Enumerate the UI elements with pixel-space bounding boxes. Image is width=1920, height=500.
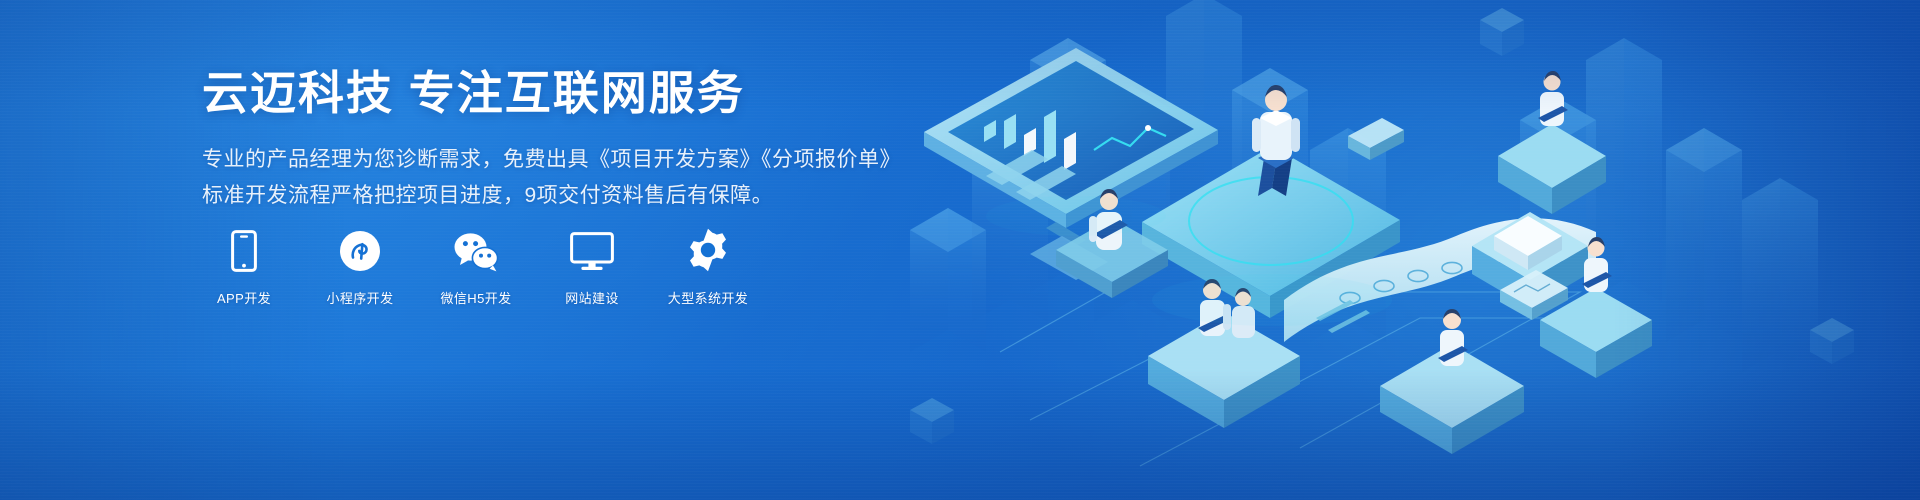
service-label-mini-program: 小程序开发 [326,288,393,307]
banner-subtitle-line-2: 标准开发流程严格把控项目进度，9项交付资料售后有保障。 [202,178,962,214]
service-label-website: 网站建设 [565,288,619,307]
service-item-wechat-h5[interactable]: 微信H5开发 [432,228,520,307]
service-list: APP开发 小程序开发 [200,228,752,307]
gear-icon [686,228,730,272]
isometric-illustration [880,0,1920,500]
service-label-wechat-h5: 微信H5开发 [440,288,511,307]
mini-program-icon [339,228,381,272]
banner-subtitle-line-1: 专业的产品经理为您诊断需求，免费出具《项目开发方案》《分项报价单》 [202,142,962,178]
service-label-large-system: 大型系统开发 [668,288,748,307]
wechat-icon [452,228,500,272]
service-item-app[interactable]: APP开发 [200,228,288,307]
smartphone-icon [231,228,257,272]
service-item-website[interactable]: 网站建设 [548,228,636,307]
monitor-icon [570,228,614,272]
banner-subtitle: 专业的产品经理为您诊断需求，免费出具《项目开发方案》《分项报价单》 标准开发流程… [202,142,962,214]
banner-copy: 云迈科技 专注互联网服务 专业的产品经理为您诊断需求，免费出具《项目开发方案》《… [202,66,962,214]
hero-banner: 云迈科技 专注互联网服务 专业的产品经理为您诊断需求，免费出具《项目开发方案》《… [0,0,1920,500]
service-label-app: APP开发 [217,288,271,307]
service-item-mini-program[interactable]: 小程序开发 [316,228,404,307]
service-item-large-system[interactable]: 大型系统开发 [664,228,752,307]
banner-headline: 云迈科技 专注互联网服务 [202,66,962,120]
